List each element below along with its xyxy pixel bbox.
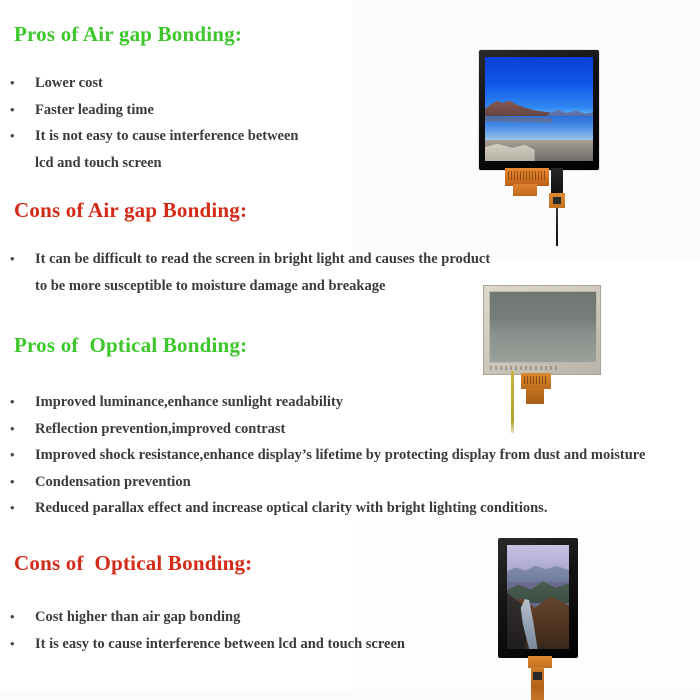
- section-heading-pros-air-gap: Pros of Air gap Bonding:: [14, 22, 242, 47]
- bullet-list-pros-air-gap: Lower cost Faster leading time It is not…: [0, 70, 299, 176]
- list-item: Cost higher than air gap bonding: [0, 604, 405, 631]
- bullet-list-cons-optical: Cost higher than air gap bonding It is e…: [0, 604, 405, 657]
- ribbon-traces: [508, 171, 546, 180]
- display-image-air-gap-capacitive: [479, 50, 611, 250]
- list-item: It is not easy to cause interference bet…: [0, 123, 299, 150]
- touch-controller-ic: [549, 193, 565, 208]
- display-screen: [489, 291, 597, 363]
- list-item: It is easy to cause interference between…: [0, 631, 405, 658]
- display-bezel: [479, 50, 599, 170]
- lcd-ribbon-cable: [528, 656, 552, 668]
- list-item: Improved shock resistance,enhance displa…: [0, 442, 645, 469]
- touch-cable-tail: [556, 208, 558, 246]
- list-item: Improved luminance,enhance sunlight read…: [0, 389, 645, 416]
- bullet-list-cons-air-gap: It can be difficult to read the screen i…: [0, 246, 490, 299]
- display-image-optical-bonded-portrait: [498, 538, 594, 700]
- lcd-ribbon-cable: [521, 373, 551, 389]
- list-item: It can be difficult to read the screen i…: [0, 246, 490, 273]
- display-screen: [485, 57, 593, 161]
- panel-label-text: [490, 366, 560, 370]
- touch-ribbon-cable: [551, 168, 563, 194]
- section-heading-pros-optical: Pros of Optical Bonding:: [14, 333, 247, 358]
- list-item: Reduced parallax effect and increase opt…: [0, 495, 645, 522]
- display-bezel: [498, 538, 578, 658]
- display-screen: [507, 545, 569, 649]
- ribbon-traces: [524, 376, 548, 384]
- list-item-continuation: to be more susceptible to moisture damag…: [0, 273, 490, 300]
- touch-controller-ic: [533, 672, 542, 680]
- list-item: Condensation prevention: [0, 469, 645, 496]
- list-item: Faster leading time: [0, 97, 299, 124]
- lcd-ribbon-cable: [505, 168, 549, 186]
- list-item: Lower cost: [0, 70, 299, 97]
- slide-canvas: Pros of Air gap Bonding: Lower cost Fast…: [0, 0, 700, 700]
- section-heading-cons-air-gap: Cons of Air gap Bonding:: [14, 198, 247, 223]
- list-item-continuation: lcd and touch screen: [0, 150, 299, 177]
- section-heading-cons-optical: Cons of Optical Bonding:: [14, 551, 252, 576]
- list-item: Reflection prevention,improved contrast: [0, 416, 645, 443]
- background-tint-panel: [0, 690, 700, 700]
- display-bezel: [483, 285, 601, 375]
- bullet-list-pros-optical: Improved luminance,enhance sunlight read…: [0, 389, 645, 522]
